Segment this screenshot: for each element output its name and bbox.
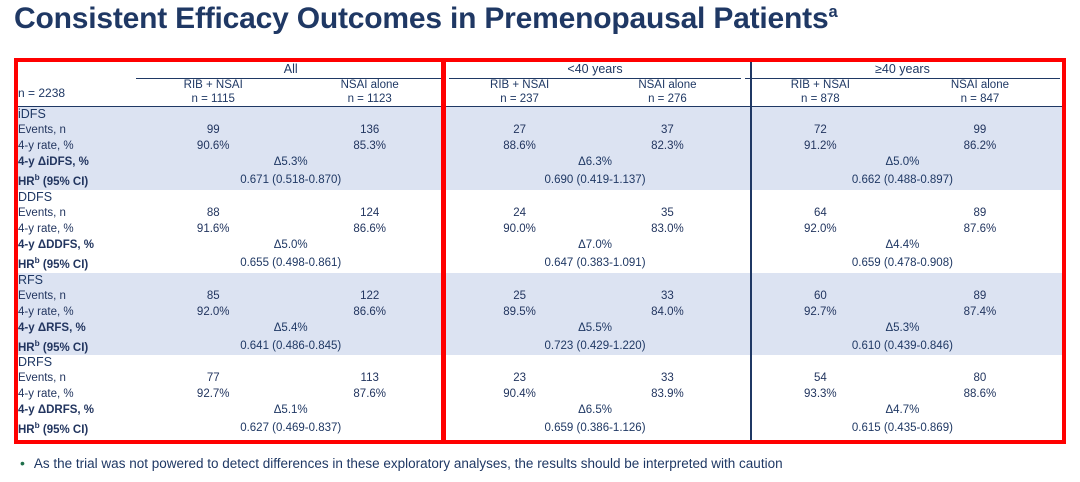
- arm-label: RIB + NSAI: [447, 79, 592, 93]
- cell-rate-ge40-1: 86.2%: [898, 138, 1062, 154]
- table-row: 4-y rate, %92.7%87.6%90.4%83.9%93.3%88.6…: [18, 386, 1062, 402]
- table-row-hr: HRb (95% CI)0.671 (0.518-0.870)0.690 (0.…: [18, 170, 1062, 190]
- cell-events-lt40-0: 23: [447, 370, 592, 386]
- arm-label: RIB + NSAI: [743, 79, 898, 93]
- hr-superscript: b: [35, 173, 40, 182]
- cell-rate-all-0: 92.0%: [134, 304, 292, 320]
- cell-events-all-1: 122: [292, 288, 447, 304]
- arm-n: n = 276: [592, 93, 743, 107]
- group-header-label: ≥40 years: [745, 62, 1060, 79]
- cell-events-all-1: 113: [292, 370, 447, 386]
- section-name-RFS: RFS: [18, 273, 1062, 288]
- cell-rate-lt40-1: 84.0%: [592, 304, 743, 320]
- cell-events-ge40-1: 80: [898, 370, 1062, 386]
- cell-events-ge40-0: 54: [743, 370, 898, 386]
- table-row-hr: HRb (95% CI)0.641 (0.486-0.845)0.723 (0.…: [18, 336, 1062, 356]
- cell-events-lt40-1: 33: [592, 370, 743, 386]
- cell-events-lt40-1: 35: [592, 205, 743, 221]
- cell-rate-all-0: 92.7%: [134, 386, 292, 402]
- cell-rate-ge40-0: 92.0%: [743, 221, 898, 237]
- table-row-delta: 4-y ΔDRFS, %Δ5.1%Δ6.5%Δ4.7%: [18, 402, 1062, 418]
- table-row: 4-y rate, %91.6%86.6%90.0%83.0%92.0%87.6…: [18, 221, 1062, 237]
- footnote-text: As the trial was not powered to detect d…: [34, 455, 783, 472]
- table-row: 4-y rate, %90.6%85.3%88.6%82.3%91.2%86.2…: [18, 138, 1062, 154]
- cell-events-all-0: 77: [134, 370, 292, 386]
- table-row: Events, n7711323335480: [18, 370, 1062, 386]
- section-name-iDFS: iDFS: [18, 107, 1062, 123]
- arm-header-0-1: NSAI alonen = 1123: [292, 79, 447, 107]
- cell-hr-ge40: 0.610 (0.439-0.846): [743, 336, 1062, 356]
- cell-rate-lt40-0: 90.4%: [447, 386, 592, 402]
- cell-hr-ge40: 0.615 (0.435-0.869): [743, 418, 1062, 438]
- cell-hr-lt40: 0.690 (0.419-1.137): [447, 170, 743, 190]
- group-header-2: ≥40 years: [743, 62, 1062, 79]
- header-spacer: [18, 62, 134, 79]
- cell-delta-ge40: Δ5.3%: [743, 320, 1062, 336]
- row-label-hr: HRb (95% CI): [18, 253, 134, 273]
- arm-label: NSAI alone: [292, 79, 447, 93]
- arm-label: NSAI alone: [898, 79, 1062, 93]
- cell-events-lt40-0: 25: [447, 288, 592, 304]
- row-label-delta: 4-y ΔDDFS, %: [18, 237, 134, 253]
- cell-rate-ge40-1: 88.6%: [898, 386, 1062, 402]
- row-label-delta: 4-y ΔDRFS, %: [18, 402, 134, 418]
- cell-hr-ge40: 0.662 (0.488-0.897): [743, 170, 1062, 190]
- arm-header-1-1: NSAI alonen = 276: [592, 79, 743, 107]
- cell-delta-all: Δ5.1%: [134, 402, 447, 418]
- cell-delta-lt40: Δ5.5%: [447, 320, 743, 336]
- cell-delta-lt40: Δ6.3%: [447, 154, 743, 170]
- cell-rate-ge40-0: 93.3%: [743, 386, 898, 402]
- cell-rate-all-1: 86.6%: [292, 304, 447, 320]
- row-label-hr: HRb (95% CI): [18, 418, 134, 438]
- table-row-delta: 4-y ΔDDFS, %Δ5.0%Δ7.0%Δ4.4%: [18, 237, 1062, 253]
- group-header-0: All: [134, 62, 447, 79]
- cell-rate-ge40-1: 87.4%: [898, 304, 1062, 320]
- cell-hr-all: 0.641 (0.486-0.845): [134, 336, 447, 356]
- cell-rate-lt40-0: 90.0%: [447, 221, 592, 237]
- table-row-delta: 4-y ΔRFS, %Δ5.4%Δ5.5%Δ5.3%: [18, 320, 1062, 336]
- row-label-events: Events, n: [18, 288, 134, 304]
- row-label-delta: 4-y ΔiDFS, %: [18, 154, 134, 170]
- cell-events-all-1: 136: [292, 122, 447, 138]
- section-name-DDFS: DDFS: [18, 190, 1062, 205]
- row-label-rate: 4-y rate, %: [18, 304, 134, 320]
- table-row: Events, n8812424356489: [18, 205, 1062, 221]
- arm-n: n = 1123: [292, 93, 447, 107]
- red-vertical-divider: [441, 58, 446, 444]
- cell-hr-lt40: 0.647 (0.383-1.091): [447, 253, 743, 273]
- arm-header-0-0: RIB + NSAIn = 1115: [134, 79, 292, 107]
- cell-rate-lt40-0: 89.5%: [447, 304, 592, 320]
- group-header-label: <40 years: [449, 62, 741, 79]
- cell-events-lt40-1: 37: [592, 122, 743, 138]
- table-row-hr: HRb (95% CI)0.627 (0.469-0.837)0.659 (0.…: [18, 418, 1062, 438]
- cell-hr-lt40: 0.659 (0.386-1.126): [447, 418, 743, 438]
- section-title-row: iDFS: [18, 107, 1062, 123]
- cell-delta-all: Δ5.4%: [134, 320, 447, 336]
- arm-n: n = 878: [743, 93, 898, 107]
- arm-label: NSAI alone: [592, 79, 743, 93]
- cell-events-all-0: 99: [134, 122, 292, 138]
- arm-header-2-0: RIB + NSAIn = 878: [743, 79, 898, 107]
- table-arm-header-row: n = 2238RIB + NSAIn = 1115NSAI alonen = …: [18, 79, 1062, 107]
- cell-rate-ge40-0: 91.2%: [743, 138, 898, 154]
- cell-events-ge40-1: 89: [898, 205, 1062, 221]
- section-title-row: DDFS: [18, 190, 1062, 205]
- table-row: Events, n8512225336089: [18, 288, 1062, 304]
- cell-rate-all-0: 90.6%: [134, 138, 292, 154]
- cell-rate-ge40-1: 87.6%: [898, 221, 1062, 237]
- cell-hr-ge40: 0.659 (0.478-0.908): [743, 253, 1062, 273]
- cell-rate-all-1: 86.6%: [292, 221, 447, 237]
- cell-delta-lt40: Δ6.5%: [447, 402, 743, 418]
- page-title-superscript: a: [828, 3, 837, 21]
- table-row-hr: HRb (95% CI)0.655 (0.498-0.861)0.647 (0.…: [18, 253, 1062, 273]
- cell-events-all-0: 85: [134, 288, 292, 304]
- hr-superscript: b: [35, 421, 40, 430]
- cell-hr-all: 0.671 (0.518-0.870): [134, 170, 447, 190]
- cell-rate-lt40-1: 83.0%: [592, 221, 743, 237]
- arm-n: n = 237: [447, 93, 592, 107]
- section-name-DRFS: DRFS: [18, 355, 1062, 370]
- arm-header-1-0: RIB + NSAIn = 237: [447, 79, 592, 107]
- table-row: Events, n9913627377299: [18, 122, 1062, 138]
- bullet-icon: •: [14, 455, 25, 472]
- row-label-rate: 4-y rate, %: [18, 138, 134, 154]
- cell-rate-all-1: 87.6%: [292, 386, 447, 402]
- navy-vertical-divider: [750, 62, 752, 440]
- row-label-events: Events, n: [18, 370, 134, 386]
- table-group-header-row: All<40 years≥40 years: [18, 62, 1062, 79]
- cell-events-ge40-0: 64: [743, 205, 898, 221]
- cell-rate-lt40-0: 88.6%: [447, 138, 592, 154]
- cell-events-ge40-1: 99: [898, 122, 1062, 138]
- arm-header-2-1: NSAI alonen = 847: [898, 79, 1062, 107]
- group-header-1: <40 years: [447, 62, 743, 79]
- row-label-hr: HRb (95% CI): [18, 336, 134, 356]
- arm-n: n = 1115: [134, 93, 292, 107]
- arm-label: RIB + NSAI: [134, 79, 292, 93]
- cell-rate-all-0: 91.6%: [134, 221, 292, 237]
- cell-events-ge40-0: 72: [743, 122, 898, 138]
- cell-events-lt40-1: 33: [592, 288, 743, 304]
- cell-rate-lt40-1: 82.3%: [592, 138, 743, 154]
- row-label-hr: HRb (95% CI): [18, 170, 134, 190]
- row-label-delta: 4-y ΔRFS, %: [18, 320, 134, 336]
- cell-hr-all: 0.655 (0.498-0.861): [134, 253, 447, 273]
- section-title-row: DRFS: [18, 355, 1062, 370]
- efficacy-table-frame: All<40 years≥40 yearsn = 2238RIB + NSAIn…: [14, 58, 1066, 444]
- cell-delta-ge40: Δ4.4%: [743, 237, 1062, 253]
- page-title: Consistent Efficacy Outcomes in Premenop…: [14, 2, 1074, 36]
- cell-delta-all: Δ5.3%: [134, 154, 447, 170]
- hr-superscript: b: [35, 256, 40, 265]
- table-row-delta: 4-y ΔiDFS, %Δ5.3%Δ6.3%Δ5.0%: [18, 154, 1062, 170]
- cell-delta-ge40: Δ4.7%: [743, 402, 1062, 418]
- cell-hr-lt40: 0.723 (0.429-1.220): [447, 336, 743, 356]
- cell-rate-lt40-1: 83.9%: [592, 386, 743, 402]
- group-header-label: All: [136, 62, 445, 79]
- section-title-row: RFS: [18, 273, 1062, 288]
- cell-delta-lt40: Δ7.0%: [447, 237, 743, 253]
- cell-hr-all: 0.627 (0.469-0.837): [134, 418, 447, 438]
- total-n-label: n = 2238: [18, 79, 134, 107]
- cell-delta-ge40: Δ5.0%: [743, 154, 1062, 170]
- cell-rate-ge40-0: 92.7%: [743, 304, 898, 320]
- row-label-rate: 4-y rate, %: [18, 386, 134, 402]
- cell-events-all-0: 88: [134, 205, 292, 221]
- cell-events-all-1: 124: [292, 205, 447, 221]
- cell-events-ge40-1: 89: [898, 288, 1062, 304]
- cell-events-lt40-0: 27: [447, 122, 592, 138]
- row-label-events: Events, n: [18, 205, 134, 221]
- cell-events-ge40-0: 60: [743, 288, 898, 304]
- arm-n: n = 847: [898, 93, 1062, 107]
- cell-rate-all-1: 85.3%: [292, 138, 447, 154]
- footnote-bullet-row: • As the trial was not powered to detect…: [14, 455, 1064, 472]
- hr-superscript: b: [35, 339, 40, 348]
- row-label-events: Events, n: [18, 122, 134, 138]
- cell-events-lt40-0: 24: [447, 205, 592, 221]
- cell-delta-all: Δ5.0%: [134, 237, 447, 253]
- row-label-rate: 4-y rate, %: [18, 221, 134, 237]
- page-title-text: Consistent Efficacy Outcomes in Premenop…: [14, 2, 828, 35]
- efficacy-outcomes-table: All<40 years≥40 yearsn = 2238RIB + NSAIn…: [18, 62, 1062, 438]
- table-row: 4-y rate, %92.0%86.6%89.5%84.0%92.7%87.4…: [18, 304, 1062, 320]
